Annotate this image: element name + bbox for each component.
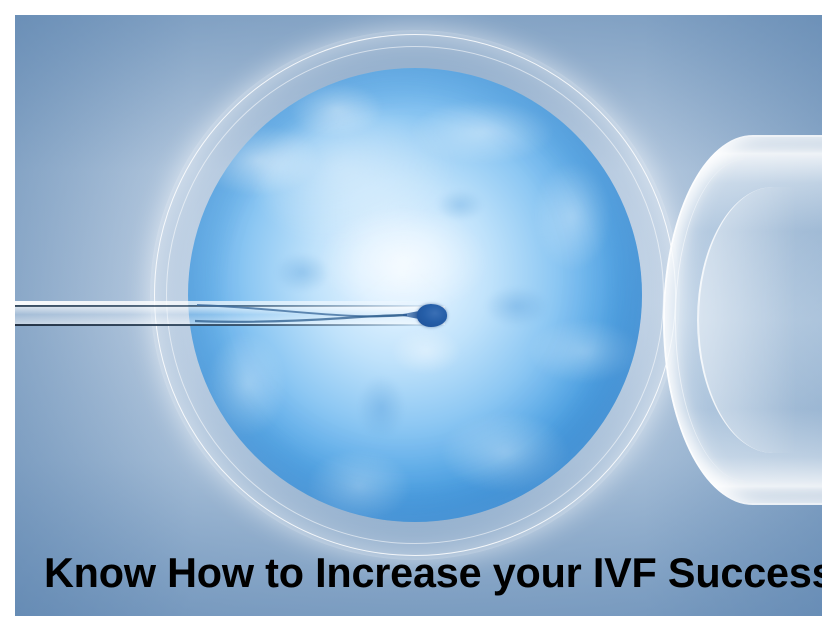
holding-pipette (663, 135, 822, 505)
poster: Know How to Increase your IVF Success Ra… (0, 0, 837, 636)
holding-pipette-inner-wall (675, 159, 822, 481)
cytoplasm-specular-highlight (261, 113, 461, 249)
sperm-cell (195, 283, 465, 343)
sperm-head (417, 304, 447, 327)
photo-panel: Know How to Increase your IVF Success Ra… (15, 15, 822, 616)
caption-bar: Know How to Increase your IVF Success Ra… (15, 530, 822, 616)
caption-headline: Know How to Increase your IVF Success Ra… (44, 552, 822, 594)
